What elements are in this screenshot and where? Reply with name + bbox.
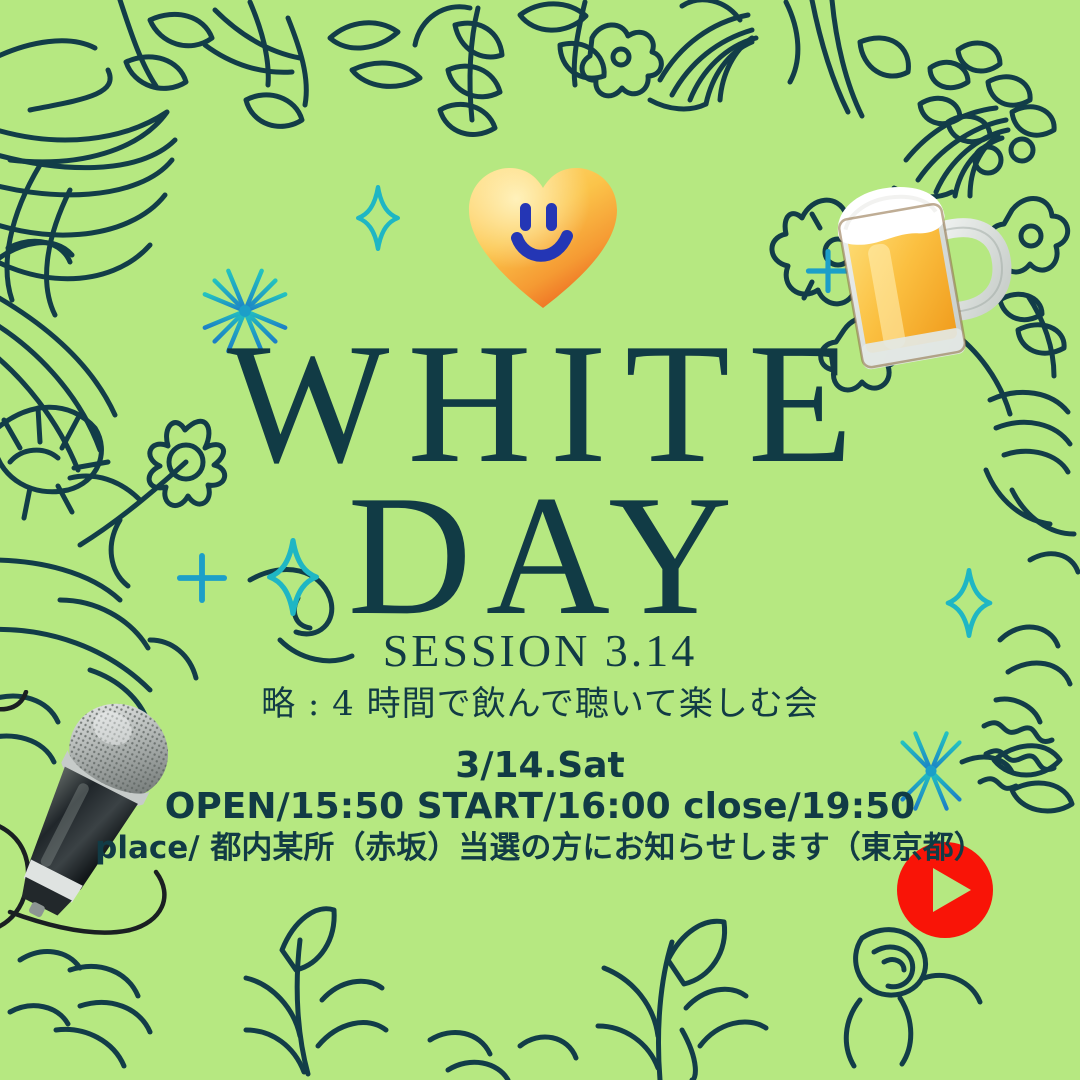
event-times: OPEN/15:50 START/16:00 close/19:50 bbox=[0, 789, 1080, 825]
title-line-day: DAY bbox=[0, 470, 1080, 642]
white-day-poster: WHITE DAY SESSION 3.14 略 : 4 時間で飲んで聴いて楽し… bbox=[0, 0, 1080, 1080]
event-date: 3/14.Sat bbox=[0, 748, 1080, 784]
poster-text-block: WHITE DAY SESSION 3.14 略 : 4 時間で飲んで聴いて楽し… bbox=[0, 0, 1080, 1080]
event-place: place/ 都内某所（赤坂）当選の方にお知らせします（東京都） bbox=[0, 833, 1080, 864]
subtitle-japanese: 略 : 4 時間で飲んで聴いて楽しむ会 bbox=[0, 682, 1080, 726]
session-label: SESSION 3.14 bbox=[0, 628, 1080, 674]
